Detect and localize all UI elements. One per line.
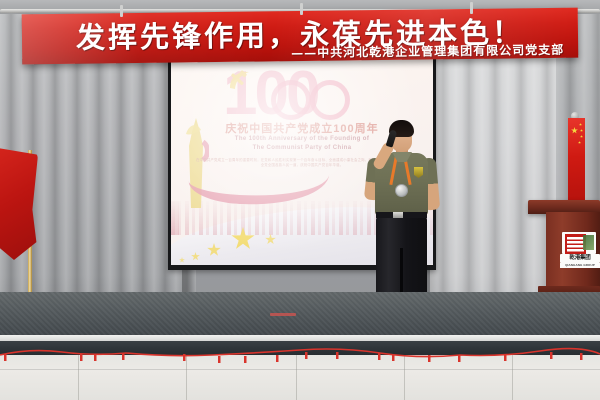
banner-hook-center (300, 3, 303, 15)
red-banner: 发挥先锋作用，永葆先进本色！ ——中共河北乾港企业管理集团有限公司党支部 (22, 8, 579, 65)
podium-company-name-en: QIANGANG GROUP (560, 263, 600, 268)
flag-left (0, 148, 38, 260)
podium-logo-leaf-icon (583, 235, 594, 250)
stage-floor-marker (270, 313, 296, 316)
red-ribbon-barrier (0, 344, 600, 366)
banner-hook-right (470, 2, 473, 14)
speaker-belt-buckle (393, 212, 403, 218)
banner-hook-left (120, 5, 123, 17)
stage-photograph: 100 庆祝中国共产党成立100周年 The 100th Anniversary… (0, 0, 600, 400)
banner-sheen (22, 8, 579, 65)
podium-logo (562, 232, 596, 254)
podium-company-name-cn: 乾港集团 (560, 254, 600, 263)
speaker-medal (395, 184, 408, 197)
